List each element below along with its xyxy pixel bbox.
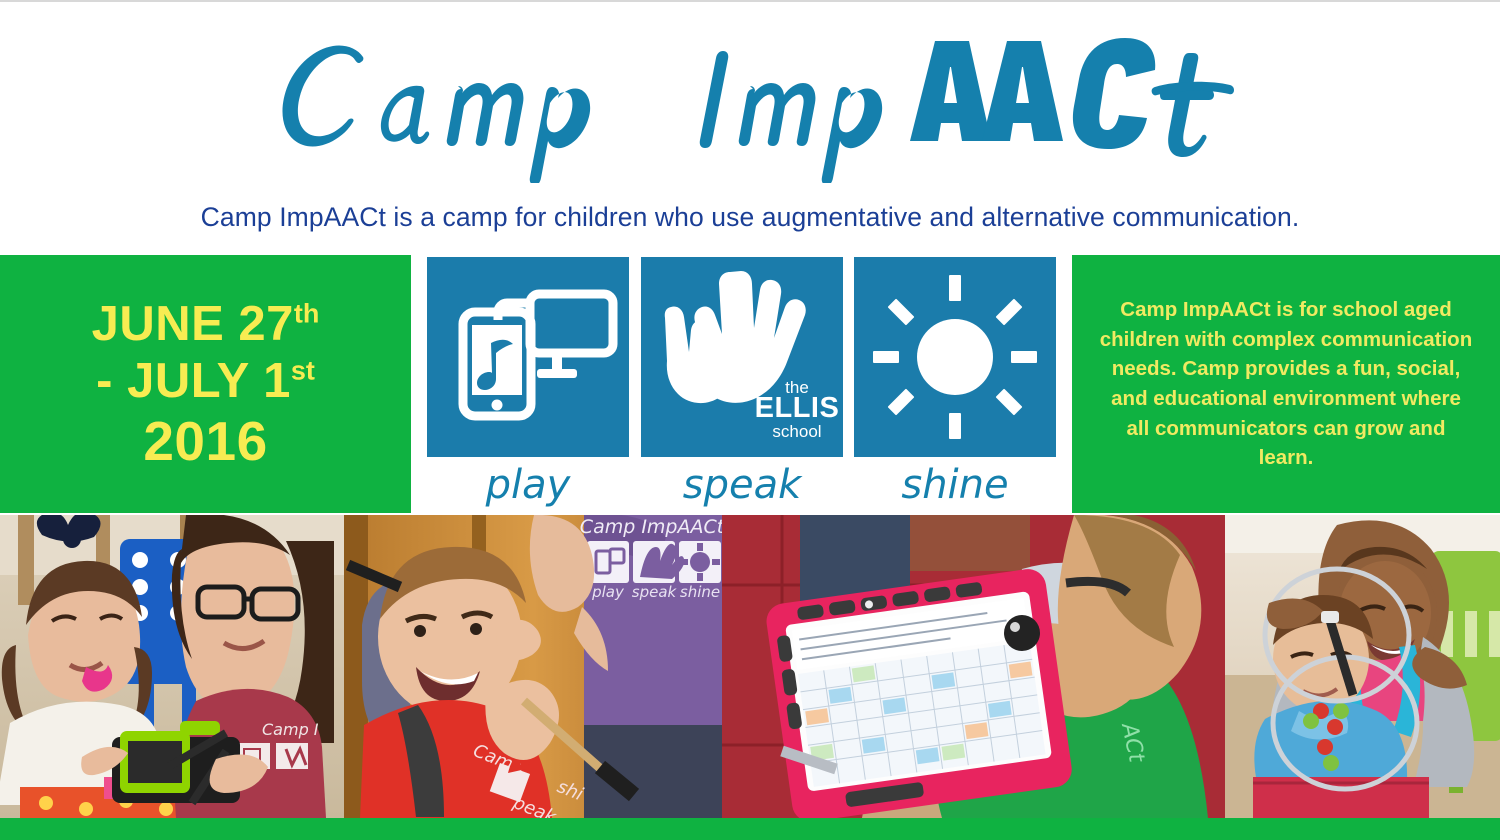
caption-speak-script: speak	[652, 460, 832, 512]
photo-boy-in-support-chair: Camp ImpAACt play sp	[344, 515, 722, 818]
icon-tiles: the ELLIS school	[427, 255, 1061, 513]
logo-artwork	[245, 23, 1255, 183]
caption-play-script: play	[453, 460, 603, 512]
camp-impaact-logo	[0, 20, 1500, 185]
info-band: JUNE 27th - JULY 1st 2016	[0, 255, 1500, 515]
caption-speak: speak	[641, 460, 843, 512]
photo-4-artwork	[1225, 515, 1500, 818]
caption-play-text: play	[485, 462, 572, 508]
header: Camp ImpAACt is a camp for children who …	[0, 2, 1500, 255]
sun-icon	[854, 257, 1056, 457]
info-panel: Camp ImpAACt is for school aged children…	[1072, 255, 1500, 513]
ellis-school-hands-icon: the ELLIS school	[641, 257, 843, 457]
date-line-3: 2016	[143, 414, 267, 469]
date-line-2-main: - JULY 1	[96, 354, 291, 408]
caption-shine-text: shine	[901, 462, 1008, 508]
caption-play: play	[427, 460, 629, 512]
tile-shine	[854, 257, 1056, 457]
photo-child-using-speech-device: ACt	[722, 515, 1225, 818]
bottom-green-bar	[0, 818, 1500, 840]
date-line-2: - JULY 1st	[96, 357, 315, 406]
photo-strip: Camp I	[0, 515, 1500, 818]
date-line-1: JUNE 27th	[92, 300, 320, 349]
caption-shine: shine	[854, 460, 1056, 512]
photo-3-artwork: ACt	[722, 515, 1225, 818]
tablet-monitor-music-icon	[427, 257, 629, 457]
photo-counselor-and-boy-with-hoops	[1225, 515, 1500, 818]
svg-text:shine: shine	[680, 583, 720, 601]
caption-shine-script: shine	[865, 460, 1045, 512]
photo-2-artwork: Camp ImpAACt play sp	[344, 515, 722, 818]
info-panel-text: Camp ImpAACt is for school aged children…	[1098, 295, 1474, 473]
caption-speak-text: speak	[683, 462, 803, 508]
ellis-logo-line-ellis: ELLIS	[755, 392, 840, 424]
svg-text:Camp ImpAACt: Camp ImpAACt	[580, 516, 722, 538]
tile-speak: the ELLIS school	[641, 257, 843, 457]
tile-play	[427, 257, 629, 457]
camp-impaact-banner: Camp ImpAACt is a camp for children who …	[0, 0, 1500, 840]
date-panel: JUNE 27th - JULY 1st 2016	[0, 255, 411, 513]
svg-text:play: play	[591, 583, 625, 601]
svg-text:speak: speak	[632, 583, 678, 601]
date-line-1-ordinal: th	[294, 298, 319, 328]
svg-text:Camp I: Camp I	[262, 720, 319, 739]
tagline: Camp ImpAACt is a camp for children who …	[0, 202, 1500, 233]
photo-girl-with-aac-device: Camp I	[0, 515, 344, 818]
ellis-logo-line-school: school	[772, 422, 821, 441]
date-line-2-ordinal: st	[291, 355, 315, 385]
date-line-1-main: JUNE 27	[92, 297, 294, 351]
photo-1-artwork: Camp I	[0, 515, 344, 818]
